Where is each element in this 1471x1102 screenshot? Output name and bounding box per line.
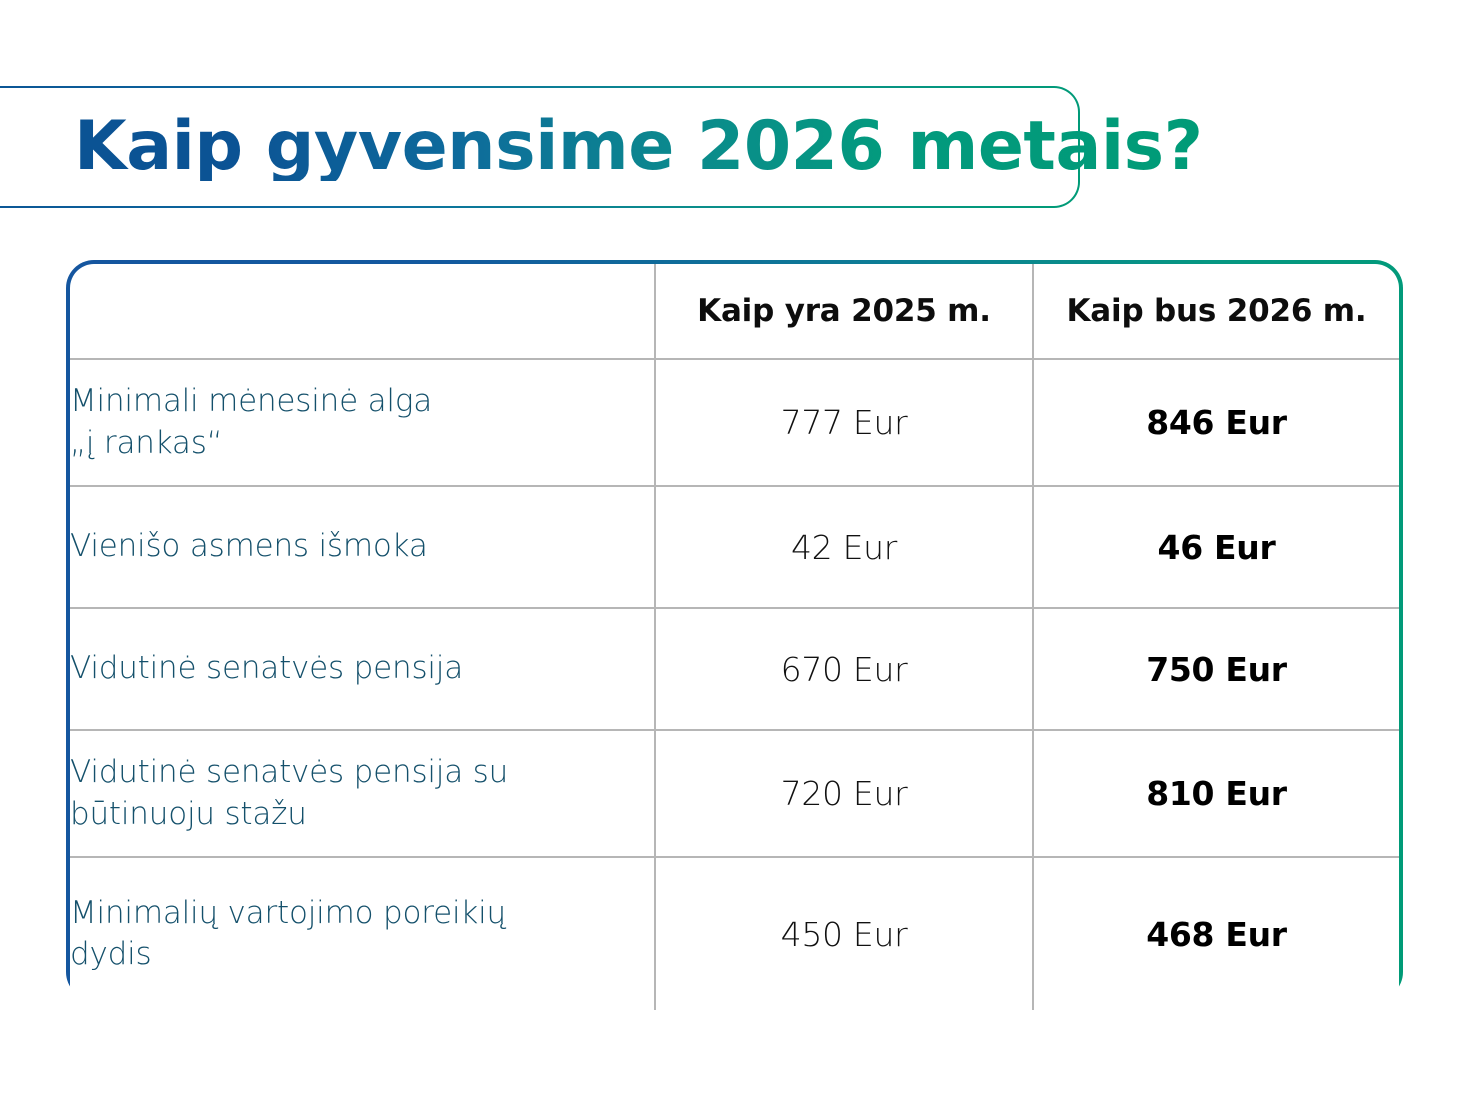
title-banner-inner: Kaip gyvensime 2026 metais? (0, 88, 1078, 206)
row-label-minimal-consumption-needs: Minimalių vartojimo poreikių dydis (70, 857, 655, 1010)
cell-2025-average-pension-full-record: 720 Eur (655, 730, 1033, 857)
table-row: Vidutinė senatvės pensija su būtinuoju s… (70, 730, 1399, 857)
table-row: Minimali mėnesinė alga „į rankas“ 777 Eu… (70, 359, 1399, 486)
row-label-line1: Minimalių vartojimo poreikių (70, 895, 506, 931)
table-row: Vienišo asmens išmoka 42 Eur 46 Eur (70, 486, 1399, 608)
cell-2026-average-pension-full-record: 810 Eur (1033, 730, 1399, 857)
cell-2026-average-pension: 750 Eur (1033, 608, 1399, 730)
cell-2025-single-person-benefit: 42 Eur (655, 486, 1033, 608)
comparison-table-frame: Kaip yra 2025 m. Kaip bus 2026 m. Minima… (66, 260, 1403, 1000)
table-header: Kaip yra 2025 m. Kaip bus 2026 m. (70, 264, 1399, 359)
cell-2025-minimal-consumption-needs: 450 Eur (655, 857, 1033, 1010)
row-label-line2: „į rankas“ (70, 425, 223, 461)
row-label-line1: Vidutinė senatvės pensija su (70, 754, 508, 790)
page-title: Kaip gyvensime 2026 metais? (0, 113, 1203, 181)
comparison-table: Kaip yra 2025 m. Kaip bus 2026 m. Minima… (70, 264, 1399, 1010)
row-label-line2: būtinuoju stažu (70, 796, 307, 832)
row-label-average-pension: Vidutinė senatvės pensija (70, 608, 655, 730)
table-row: Vidutinė senatvės pensija 670 Eur 750 Eu… (70, 608, 1399, 730)
cell-2025-average-pension: 670 Eur (655, 608, 1033, 730)
column-header-2026: Kaip bus 2026 m. (1033, 264, 1399, 359)
cell-2026-minimal-wage: 846 Eur (1033, 359, 1399, 486)
row-label-average-pension-full-record: Vidutinė senatvės pensija su būtinuoju s… (70, 730, 655, 857)
table-header-row: Kaip yra 2025 m. Kaip bus 2026 m. (70, 264, 1399, 359)
row-label-line1: Minimali mėnesinė alga (70, 383, 432, 419)
column-header-2025: Kaip yra 2025 m. (655, 264, 1033, 359)
column-header-label (70, 264, 655, 359)
table-body: Minimali mėnesinė alga „į rankas“ 777 Eu… (70, 359, 1399, 1010)
cell-2025-minimal-wage: 777 Eur (655, 359, 1033, 486)
cell-2026-minimal-consumption-needs: 468 Eur (1033, 857, 1399, 1010)
row-label-single-person-benefit: Vienišo asmens išmoka (70, 486, 655, 608)
cell-2026-single-person-benefit: 46 Eur (1033, 486, 1399, 608)
title-banner: Kaip gyvensime 2026 metais? (0, 86, 1080, 208)
row-label-line2: dydis (70, 936, 151, 972)
row-label-minimal-wage: Minimali mėnesinė alga „į rankas“ (70, 359, 655, 486)
table-row: Minimalių vartojimo poreikių dydis 450 E… (70, 857, 1399, 1010)
